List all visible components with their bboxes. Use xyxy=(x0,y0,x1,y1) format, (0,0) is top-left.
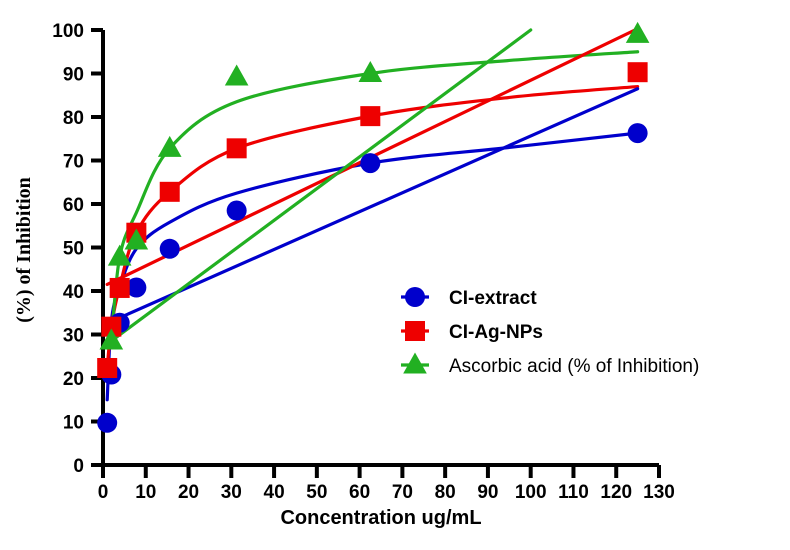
x-tick-label: 60 xyxy=(349,482,370,503)
fitted-curve xyxy=(107,87,637,368)
data-point-marker xyxy=(97,413,117,433)
data-point-marker xyxy=(360,106,380,126)
x-tick-label: 10 xyxy=(135,482,156,503)
data-point-marker xyxy=(628,62,648,82)
data-point-marker xyxy=(225,64,249,85)
y-tick-label: 50 xyxy=(63,239,84,260)
x-tick-label: 50 xyxy=(306,482,327,503)
y-tick-label: 60 xyxy=(63,195,84,216)
data-point-marker xyxy=(227,201,247,221)
data-point-marker xyxy=(110,278,130,298)
chart-legend: CI-extractCI-Ag-NPsAscorbic acid (% of I… xyxy=(401,287,699,377)
inhibition-line-chart: (%) of Inhibition 0102030405060708090100… xyxy=(0,0,790,550)
legend-label: Ascorbic acid (% of Inhibition) xyxy=(449,356,699,377)
legend-label: CI-Ag-NPs xyxy=(449,322,543,343)
x-tick-label: 90 xyxy=(477,482,498,503)
x-tick-label: 120 xyxy=(600,482,632,503)
legend-label: CI-extract xyxy=(449,288,537,309)
y-tick-label: 10 xyxy=(63,413,84,434)
x-tick-label: 0 xyxy=(98,482,109,503)
series-circle xyxy=(97,123,647,433)
data-point-marker xyxy=(160,239,180,259)
y-tick-label: 30 xyxy=(63,326,84,347)
x-axis-title: Concentration ug/mL xyxy=(280,507,481,529)
y-tick-label: 90 xyxy=(63,65,84,86)
x-tick-label: 30 xyxy=(221,482,242,503)
x-tick-label: 80 xyxy=(435,482,456,503)
data-point-marker xyxy=(360,153,380,173)
data-point-marker xyxy=(160,182,180,202)
legend-item[interactable]: CI-Ag-NPs xyxy=(401,321,543,343)
series-triangle xyxy=(100,22,650,350)
x-tick-label: 130 xyxy=(643,482,675,503)
x-axis-ticks: 0102030405060708090100110120130 xyxy=(98,452,675,503)
y-tick-label: 20 xyxy=(63,369,84,390)
x-tick-label: 20 xyxy=(178,482,199,503)
legend-marker-square-icon xyxy=(405,321,425,341)
y-tick-label: 0 xyxy=(73,456,84,477)
y-tick-label: 70 xyxy=(63,152,84,173)
x-tick-label: 100 xyxy=(515,482,547,503)
x-tick-label: 70 xyxy=(392,482,413,503)
legend-item[interactable]: Ascorbic acid (% of Inhibition) xyxy=(401,353,699,378)
legend-item[interactable]: CI-extract xyxy=(401,287,537,309)
data-point-marker xyxy=(227,138,247,158)
y-tick-label: 100 xyxy=(52,21,84,42)
y-axis-ticks: 0102030405060708090100 xyxy=(52,21,103,477)
y-axis-title: (%) of Inhibition xyxy=(13,177,35,323)
data-point-marker xyxy=(97,358,117,378)
legend-marker-circle-icon xyxy=(405,287,425,307)
chart-container: (%) of Inhibition 0102030405060708090100… xyxy=(0,0,790,550)
y-tick-label: 40 xyxy=(63,282,84,303)
series-square xyxy=(97,62,647,378)
fitted-curve xyxy=(111,52,637,341)
legend-marker-triangle-icon xyxy=(403,353,427,374)
y-tick-label: 80 xyxy=(63,108,84,129)
x-tick-label: 40 xyxy=(264,482,285,503)
data-point-marker xyxy=(628,123,648,143)
fitted-curves xyxy=(107,52,637,400)
x-tick-label: 110 xyxy=(558,482,589,503)
